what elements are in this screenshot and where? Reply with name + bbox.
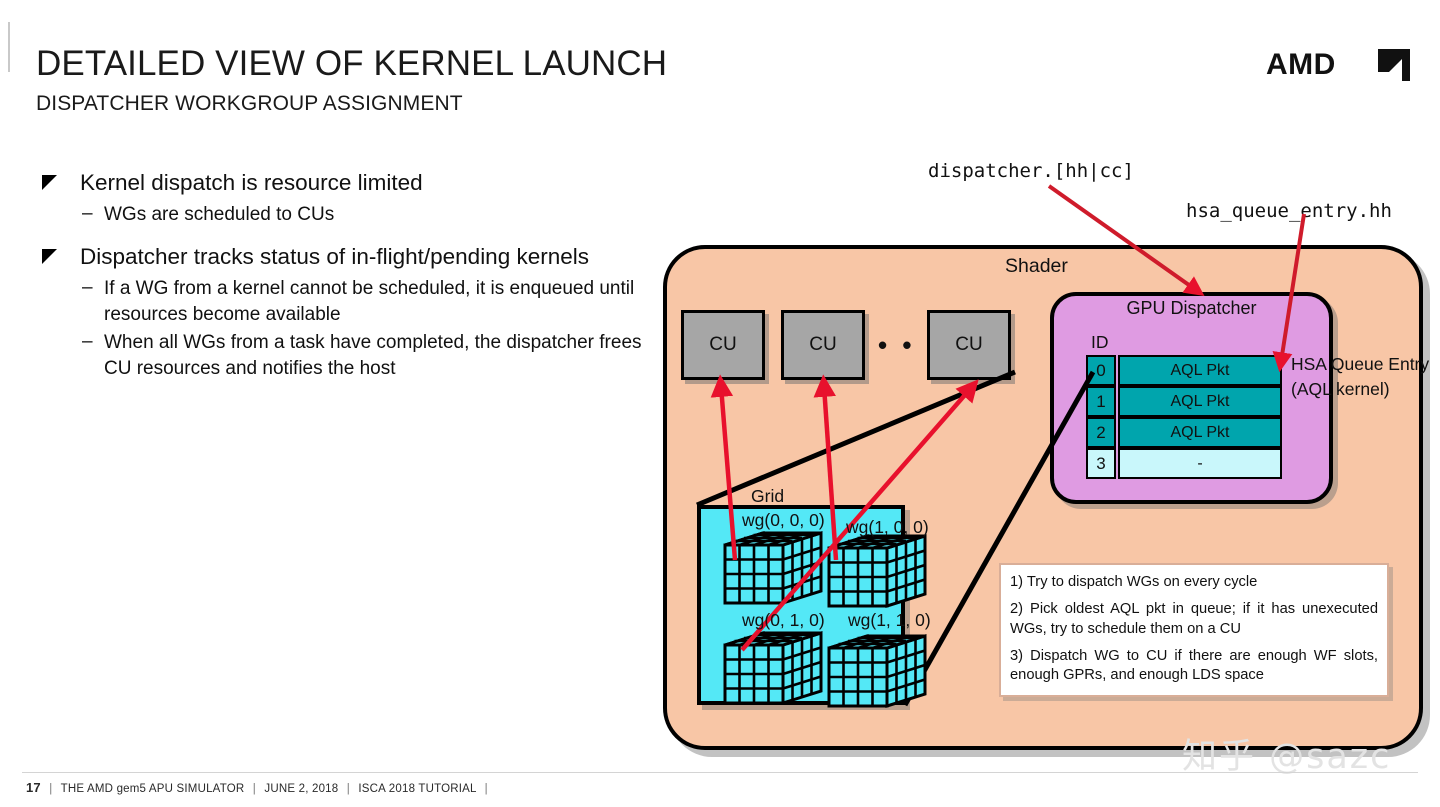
aql-row-id: 1 <box>1086 386 1116 417</box>
grid-label: Grid <box>751 486 784 507</box>
cu-box-1[interactable]: CU <box>781 310 865 380</box>
code-label-hsa-queue-entry: hsa_queue_entry.hh <box>1186 200 1392 222</box>
page-number: 17 <box>26 780 41 795</box>
page-title: DETAILED VIEW OF KERNEL LAUNCH <box>36 44 667 84</box>
sub-bullet-2-1: – If a WG from a kernel cannot be schedu… <box>38 276 658 328</box>
bullet-spacer <box>38 230 658 242</box>
triangle-bullet-icon <box>42 175 57 190</box>
footer: 17 | THE AMD gem5 APU SIMULATOR | JUNE 2… <box>26 780 493 795</box>
wg-label-2: wg(0, 1, 0) <box>742 610 825 631</box>
aql-row-value: AQL Pkt <box>1118 355 1282 386</box>
note-item-2: 2) Pick oldest AQL pkt in queue; if it h… <box>1010 600 1378 640</box>
left-accent-rule <box>8 22 10 72</box>
aql-row-value: AQL Pkt <box>1118 417 1282 448</box>
sub-bullet-2-1-text: If a WG from a kernel cannot be schedule… <box>104 278 634 325</box>
page-subtitle: DISPATCHER WORKGROUP ASSIGNMENT <box>36 92 463 116</box>
hsa-queue-entry-line2: (AQL kernel) <box>1291 377 1429 402</box>
aql-id-column-header: ID <box>1091 332 1109 353</box>
wg-label-0: wg(0, 0, 0) <box>742 510 825 531</box>
note-item-1: 1) Try to dispatch WGs on every cycle <box>1010 573 1378 593</box>
triangle-bullet-icon <box>42 249 57 264</box>
sub-bullet-1-1-text: WGs are scheduled to CUs <box>104 204 334 225</box>
footer-item-1: JUNE 2, 2018 <box>264 783 338 795</box>
shader-label: Shader <box>1005 255 1068 278</box>
wg-label-3: wg(1, 1, 0) <box>848 610 931 631</box>
footer-separator: | <box>49 783 52 795</box>
bullet-list: Kernel dispatch is resource limited – WG… <box>38 168 658 384</box>
table-row[interactable]: 3 - <box>1086 448 1282 479</box>
dash-bullet-icon: – <box>82 329 93 355</box>
sub-bullet-2-2: – When all WGs from a task have complete… <box>38 330 658 382</box>
cu-box-2[interactable]: CU <box>927 310 1011 380</box>
bullet-1-text: Kernel dispatch is resource limited <box>80 168 658 198</box>
amd-arrow-icon <box>1378 49 1410 81</box>
footer-divider <box>22 772 1418 773</box>
dispatch-notes-box: 1) Try to dispatch WGs on every cycle 2)… <box>999 563 1389 697</box>
table-row[interactable]: 2 AQL Pkt <box>1086 417 1282 448</box>
bullet-2-text: Dispatcher tracks status of in-flight/pe… <box>80 242 658 272</box>
footer-item-0: THE AMD gem5 APU SIMULATOR <box>61 783 245 795</box>
svg-text:AMD: AMD <box>1266 48 1336 81</box>
note-item-3: 3) Dispatch WG to CU if there are enough… <box>1010 647 1378 687</box>
footer-separator: | <box>485 783 488 795</box>
bullet-item-1: Kernel dispatch is resource limited <box>38 168 658 198</box>
dash-bullet-icon: – <box>82 275 93 301</box>
table-row[interactable]: 1 AQL Pkt <box>1086 386 1282 417</box>
slide-canvas: DETAILED VIEW OF KERNEL LAUNCH DISPATCHE… <box>0 0 1440 807</box>
dash-bullet-icon: – <box>82 201 93 227</box>
hsa-queue-entry-line1: HSA Queue Entry <box>1291 352 1429 377</box>
code-label-dispatcher: dispatcher.[hh|cc] <box>928 160 1134 182</box>
gpu-dispatcher-title: GPU Dispatcher <box>1050 298 1333 319</box>
table-row[interactable]: 0 AQL Pkt <box>1086 355 1282 386</box>
wg-label-1: wg(1, 0, 0) <box>846 517 929 538</box>
aql-row-id: 2 <box>1086 417 1116 448</box>
aql-row-id: 3 <box>1086 448 1116 479</box>
footer-item-2: ISCA 2018 TUTORIAL <box>358 783 476 795</box>
aql-row-id: 0 <box>1086 355 1116 386</box>
hsa-queue-entry-label: HSA Queue Entry (AQL kernel) <box>1291 352 1429 403</box>
footer-separator: | <box>253 783 256 795</box>
bullet-item-2: Dispatcher tracks status of in-flight/pe… <box>38 242 658 272</box>
aql-queue-table: 0 AQL Pkt 1 AQL Pkt 2 AQL Pkt 3 - <box>1086 355 1282 479</box>
aql-row-value: AQL Pkt <box>1118 386 1282 417</box>
amd-logo: AMD <box>1266 47 1412 81</box>
cu-box-0[interactable]: CU <box>681 310 765 380</box>
aql-row-value: - <box>1118 448 1282 479</box>
sub-bullet-1-1: – WGs are scheduled to CUs <box>38 202 658 228</box>
sub-bullet-2-2-text: When all WGs from a task have completed,… <box>104 332 642 379</box>
footer-separator: | <box>347 783 350 795</box>
